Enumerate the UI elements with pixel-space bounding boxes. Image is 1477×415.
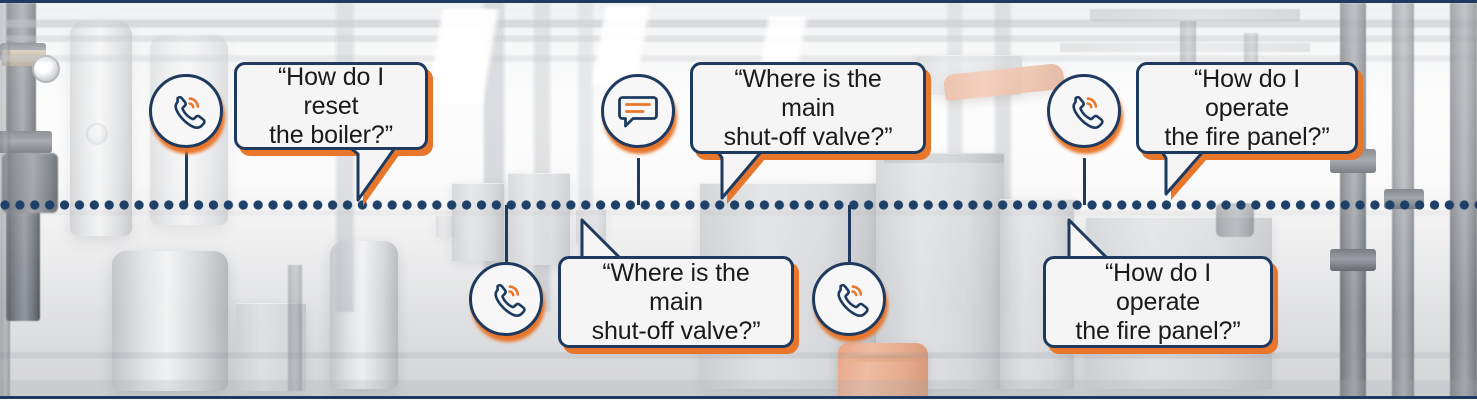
callout-icon-fire-panel-bottom[interactable]: [812, 262, 886, 336]
bubble-text: “Where is the main shut-off valve?”: [575, 259, 777, 346]
callout-bubble-fire-panel-bottom[interactable]: “How do I operate the fire panel?”: [1043, 256, 1273, 348]
bubble-tail-down: [336, 140, 416, 210]
callout-bubble-fire-panel-top[interactable]: “How do I operate the fire panel?”: [1136, 62, 1358, 154]
top-rule: [0, 0, 1477, 3]
callout-icon-fire-panel-top[interactable]: [1047, 74, 1121, 148]
bubble-body: “How do I reset the boiler?”: [234, 62, 428, 150]
phone-ringing-icon: [469, 262, 543, 336]
infographic-banner: “How do I reset the boiler?” “Where is t…: [0, 0, 1477, 415]
phone-ringing-icon: [149, 74, 223, 148]
bubble-text: “Where is the main shut-off valve?”: [707, 65, 909, 152]
bubble-body: “Where is the main shut-off valve?”: [558, 256, 794, 348]
callout-icon-shutoff-valve-top[interactable]: [601, 74, 675, 148]
bubble-text: “How do I operate the fire panel?”: [1153, 65, 1341, 152]
callout-icon-reset-boiler[interactable]: [149, 74, 223, 148]
callout-icon-shutoff-valve-bottom[interactable]: [469, 262, 543, 336]
bubble-body: “How do I operate the fire panel?”: [1136, 62, 1358, 154]
callout-bubble-shutoff-valve-bottom[interactable]: “Where is the main shut-off valve?”: [558, 256, 794, 348]
connector-stem-reset-boiler: [185, 150, 188, 205]
connector-stem-fire-panel-bottom: [848, 205, 851, 263]
phone-ringing-icon: [812, 262, 886, 336]
callout-bubble-reset-boiler[interactable]: “How do I reset the boiler?”: [234, 62, 428, 150]
callout-bubble-shutoff-valve-top[interactable]: “Where is the main shut-off valve?”: [690, 62, 926, 154]
connector-stem-shutoff-valve-top: [637, 158, 640, 205]
phone-ringing-icon: [1047, 74, 1121, 148]
connector-stem-fire-panel-top: [1083, 158, 1086, 205]
bubble-text: “How do I operate the fire panel?”: [1060, 259, 1256, 346]
bottom-margin: [0, 399, 1477, 415]
bubble-body: “How do I operate the fire panel?”: [1043, 256, 1273, 348]
connector-stem-shutoff-valve-bottom: [505, 205, 508, 263]
chat-bubble-icon: [601, 74, 675, 148]
bubble-text: “How do I reset the boiler?”: [251, 63, 411, 150]
bubble-body: “Where is the main shut-off valve?”: [690, 62, 926, 154]
